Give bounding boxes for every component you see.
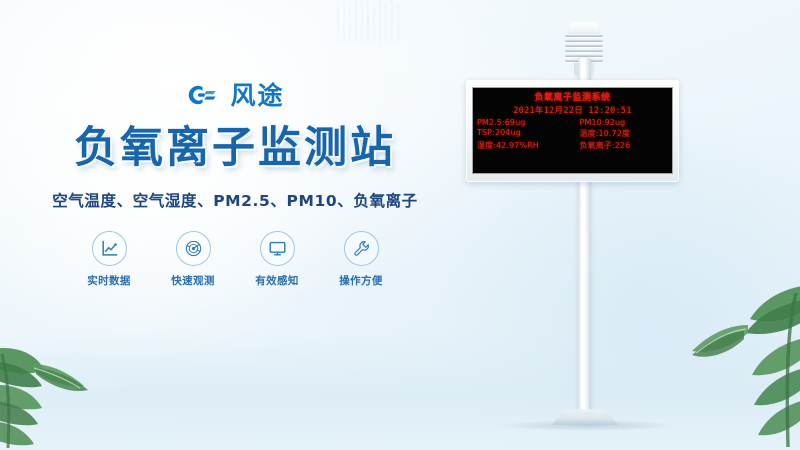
led-reading: 温度:10.72度 [574,128,669,139]
led-display-title: 负氧离子监测系统 [473,90,672,103]
line-chart-icon [100,239,119,258]
station-ground-shadow [500,420,675,431]
page-title: 负氧离子监测站 [0,124,470,172]
radar-scan-icon [184,239,203,258]
feature-icon-wrap [260,231,295,266]
monitor-icon [268,239,287,258]
wrench-icon [352,239,371,258]
feature-item-easy-operation[interactable]: 操作方便 [332,231,390,288]
led-reading: PM10:92ug [574,118,669,127]
led-reading: TSP:204ug [477,128,572,139]
green-leaf-icon [678,275,800,450]
feature-label: 有效感知 [248,273,306,288]
led-reading: 湿度:42.97%RH [477,140,572,151]
feature-item-fast-observation[interactable]: 快速观测 [164,231,222,288]
led-reading: 负氧离子:226 [574,140,669,151]
poster-canvas: 风途 负氧离子监测站 空气温度、空气湿度、PM2.5、PM10、负氧离子 实时数… [0,0,800,450]
feature-label: 操作方便 [332,273,390,288]
feature-item-realtime-data[interactable]: 实时数据 [80,231,138,288]
feature-icon-wrap [344,231,379,266]
led-display-screen: 负氧离子监测系统 2021年12月22日 12:20:51 PM2.5:69ug… [472,87,673,174]
led-display-datetime: 2021年12月22日 12:20:51 [473,104,672,116]
brand-logo: 风途 [0,78,470,112]
led-reading: PM2.5:69ug [477,118,572,127]
feature-list: 实时数据 快速观测 [0,231,470,288]
feature-icon-wrap [92,231,127,266]
fengtu-g-logo-icon [185,82,221,108]
green-leaf-icon [0,320,122,450]
feature-label: 快速观测 [164,273,222,288]
led-display-frame: 负氧离子监测系统 2021年12月22日 12:20:51 PM2.5:69ug… [466,80,679,182]
page-subtitle: 空气温度、空气湿度、PM2.5、PM10、负氧离子 [0,189,470,211]
feature-label: 实时数据 [80,273,138,288]
watermark-icon [330,0,410,42]
feature-icon-wrap [176,231,211,266]
hero-text-panel: 风途 负氧离子监测站 空气温度、空气湿度、PM2.5、PM10、负氧离子 实时数… [0,78,470,288]
led-reading-grid: PM2.5:69ug PM10:92ug TSP:204ug 温度:10.72度… [473,118,672,151]
brand-name: 风途 [230,83,284,108]
feature-item-effective-sensing[interactable]: 有效感知 [248,231,306,288]
